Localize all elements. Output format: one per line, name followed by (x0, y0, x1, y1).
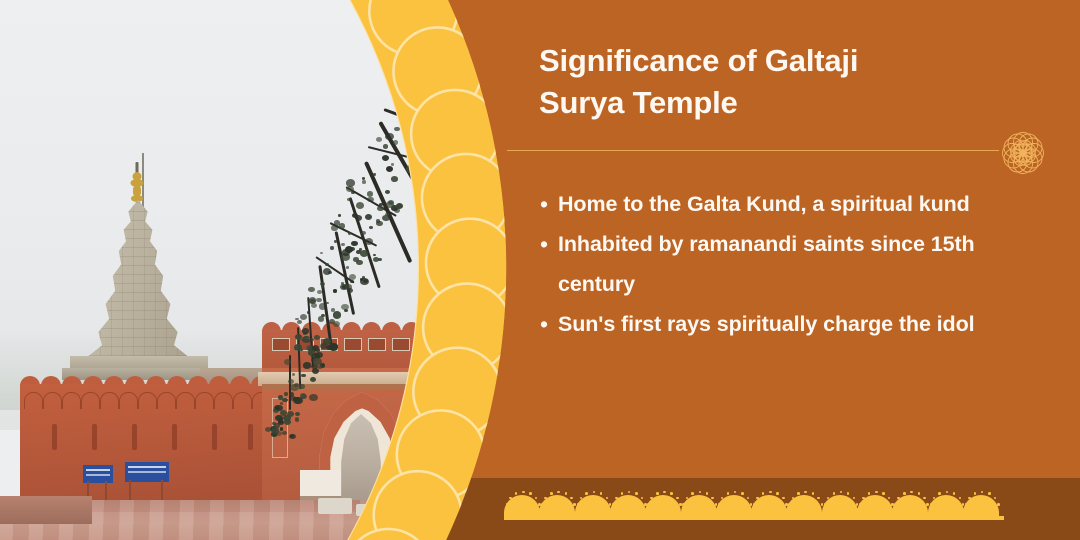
scallop-dot (529, 492, 532, 495)
scallop-dot (812, 492, 815, 495)
bottom-scallop-border (504, 484, 1004, 520)
scallop-dot (981, 491, 984, 494)
scallop-dot (910, 491, 913, 494)
page-title: Significance of Galtaji Surya Temple (539, 40, 1019, 123)
scallop-dot (711, 497, 714, 500)
scallop-dot (959, 497, 962, 500)
scallop-dot (606, 497, 609, 500)
scallop-dot (670, 492, 673, 495)
scallop-dot (734, 491, 737, 494)
scallop-dot (882, 492, 885, 495)
scallop-dot (565, 492, 568, 495)
slide-canvas: Significance of Galtaji Surya Temple •Ho… (0, 0, 1080, 540)
scallop-dot (747, 497, 750, 500)
scallop-dot (656, 492, 659, 495)
scallop-dot (833, 492, 836, 495)
title-divider-line (507, 150, 999, 151)
scallop-dot (903, 492, 906, 495)
scallop-dot (847, 492, 850, 495)
scallop-dot (824, 503, 827, 506)
mandala-ornament-icon (996, 126, 1050, 180)
scallop-dot (741, 492, 744, 495)
bullet-marker-icon: • (540, 184, 558, 224)
scallop-dot (968, 497, 971, 500)
scallop-dot (706, 492, 709, 495)
scallop-dot (938, 492, 941, 495)
title-line-2: Surya Temple (539, 82, 1019, 124)
scallop-dot (840, 491, 843, 494)
title-line-1: Significance of Galtaji (539, 40, 1019, 82)
scallop-dot (788, 503, 791, 506)
scallop-dot (585, 492, 588, 495)
bench-left (318, 498, 352, 514)
scallop-dot (997, 503, 1000, 506)
scallop-dot (550, 492, 553, 495)
scallop-dot (797, 492, 800, 495)
bullet-item: •Home to the Galta Kund, a spiritual kun… (540, 184, 1040, 224)
scallop-dot (691, 492, 694, 495)
scallop-dot (682, 503, 685, 506)
scallop-dot (804, 491, 807, 494)
scallop-dot (868, 492, 871, 495)
scallop-dot (663, 491, 666, 494)
scallop-dot (535, 497, 538, 500)
scallop-dot (946, 491, 949, 494)
bullet-marker-icon: • (540, 224, 558, 264)
scallop-dot (918, 492, 921, 495)
scallop-dot (894, 503, 897, 506)
scallop-dot (753, 503, 756, 506)
scallop-dot (541, 503, 544, 506)
scallop-dot (699, 491, 702, 494)
scallop-dot (647, 503, 650, 506)
scallop-dot (817, 497, 820, 500)
bullet-list: •Home to the Galta Kund, a spiritual kun… (540, 184, 1040, 344)
scallop-dot (974, 492, 977, 495)
stone-plinth (0, 496, 92, 524)
scallop-dot (923, 497, 926, 500)
scallop-dot (570, 497, 573, 500)
scallop-dot (762, 492, 765, 495)
scallop-dot (853, 497, 856, 500)
scallop-dot (994, 497, 997, 500)
scallop-dot (557, 491, 560, 494)
bullet-text: Home to the Galta Kund, a spiritual kund (558, 184, 970, 224)
scallop-dot (988, 492, 991, 495)
bullet-text: Inhabited by ramanandi saints since 15th… (558, 224, 1018, 304)
scallop-dot (930, 503, 933, 506)
scallop-dot (769, 491, 772, 494)
scallop-dot (577, 503, 580, 506)
scallop-dot (628, 491, 631, 494)
bullet-marker-icon: • (540, 304, 558, 344)
scallop-dot (615, 497, 618, 500)
scallop-dot (782, 497, 785, 500)
scallop-dot (522, 491, 525, 494)
scallop-dot (875, 491, 878, 494)
scallop-dot (676, 497, 679, 500)
bullet-item: •Inhabited by ramanandi saints since 15t… (540, 224, 1040, 304)
scallop-dot (953, 492, 956, 495)
scallop-dot (593, 491, 596, 494)
bullet-text: Sun's first rays spiritually charge the … (558, 304, 975, 344)
scallop-dot (515, 492, 518, 495)
scallop-dot (727, 492, 730, 495)
bullet-item: •Sun's first rays spiritually charge the… (540, 304, 1040, 344)
scallop-dot (621, 492, 624, 495)
scallop-dot (635, 492, 638, 495)
scallop-dot (600, 492, 603, 495)
scallop-dot (776, 492, 779, 495)
temple-finial (130, 162, 144, 206)
scallop-dot (888, 497, 891, 500)
scallop-dot (641, 497, 644, 500)
